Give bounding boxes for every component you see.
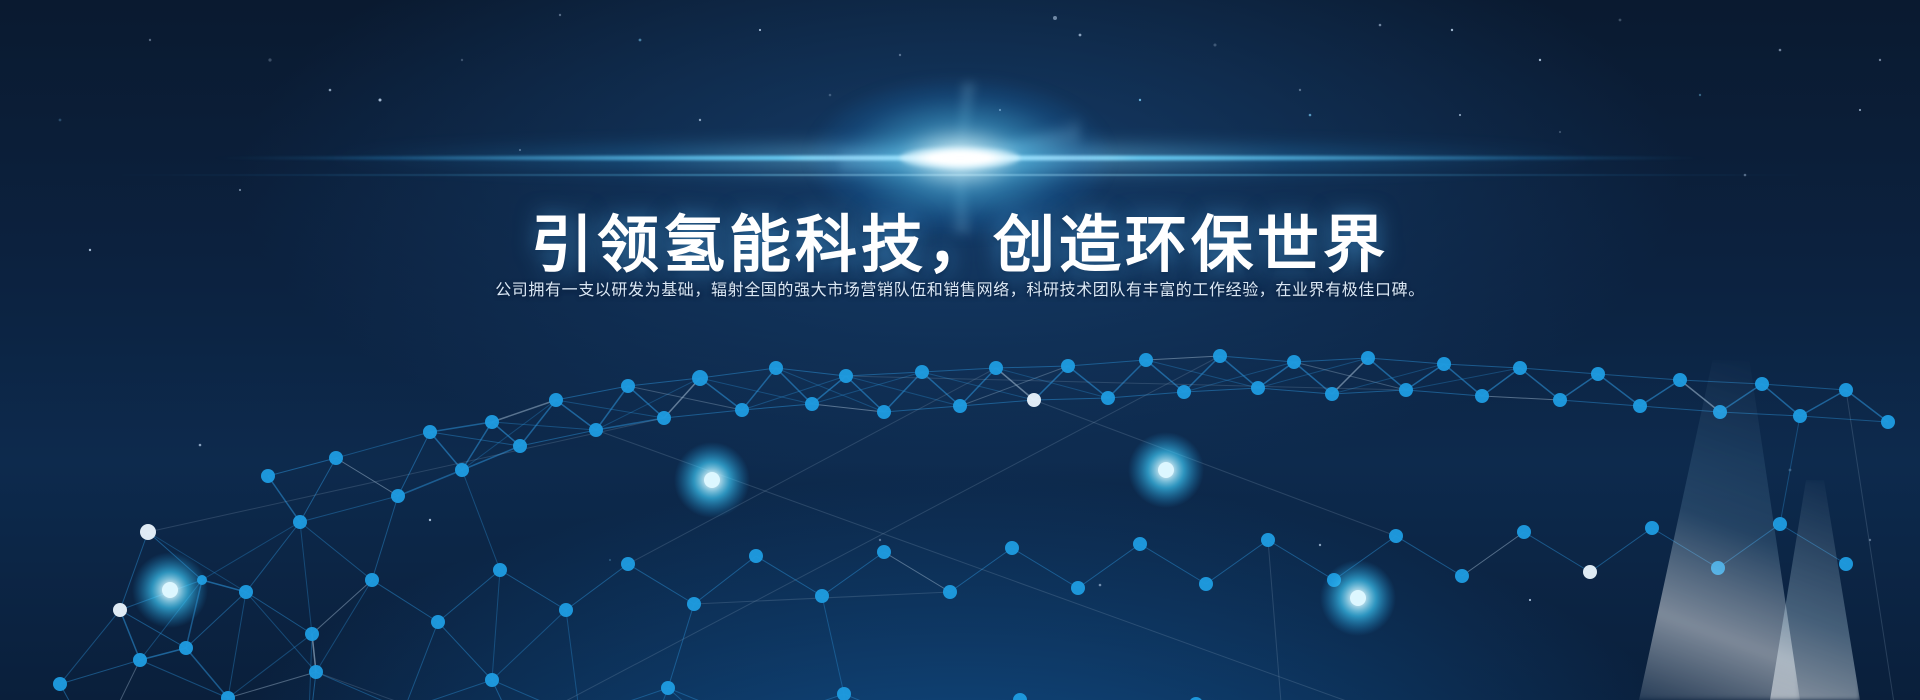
page-title: 引领氢能科技，创造环保世界	[0, 194, 1920, 284]
hero-banner: 引领氢能科技，创造环保世界 公司拥有一支以研发为基础，辐射全国的强大市场营销队伍…	[0, 0, 1920, 700]
hero-text-block: 引领氢能科技，创造环保世界 公司拥有一支以研发为基础，辐射全国的强大市场营销队伍…	[0, 0, 1920, 700]
page-subtitle: 公司拥有一支以研发为基础，辐射全国的强大市场营销队伍和销售网络，科研技术团队有丰…	[0, 276, 1920, 300]
